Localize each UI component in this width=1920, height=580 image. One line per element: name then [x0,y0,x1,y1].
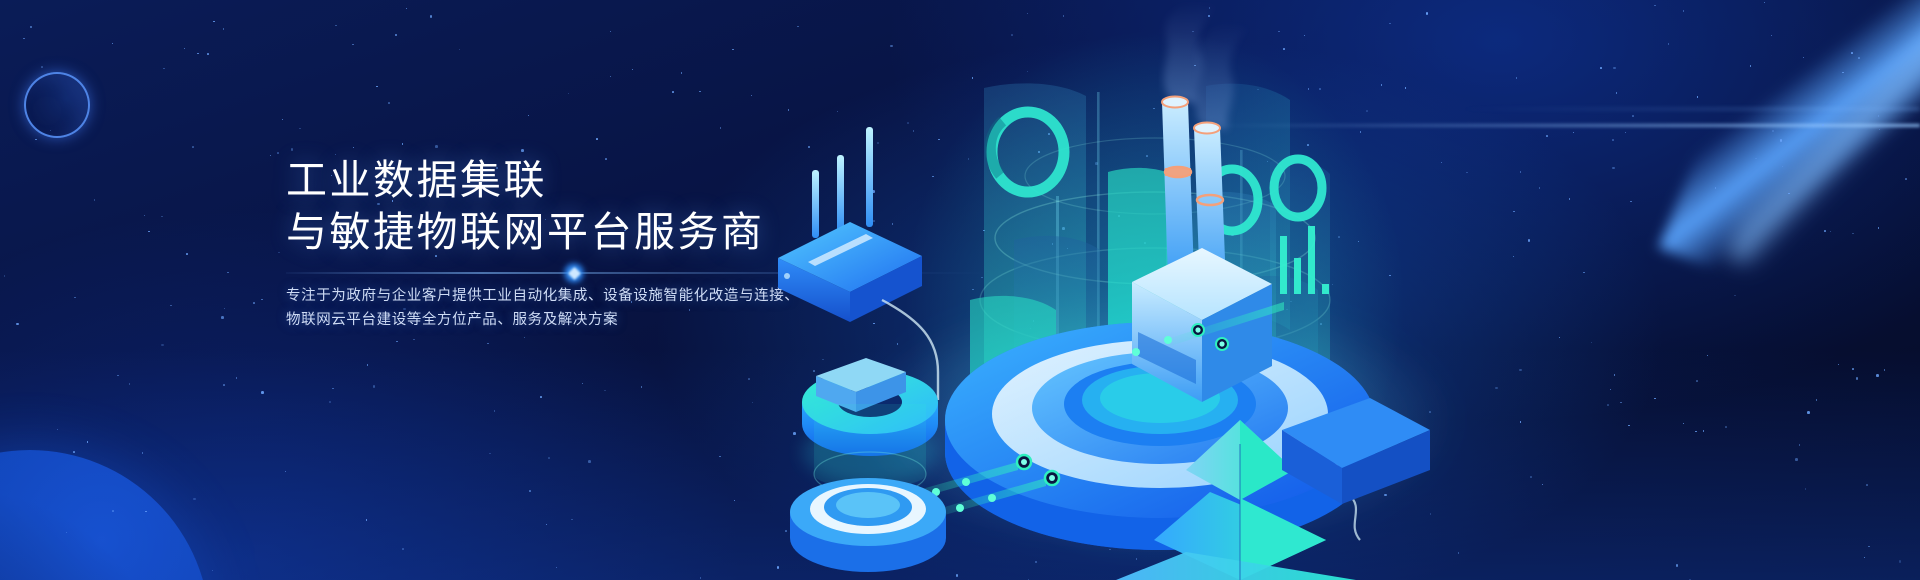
headline-line-2: 与敏捷物联网平台服务商 [286,206,846,258]
hero-copy: 工业数据集联 与敏捷物联网平台服务商 专注于为政府与企业客户提供工业自动化集成、… [286,154,846,332]
hero-banner: 工业数据集联 与敏捷物联网平台服务商 专注于为政府与企业客户提供工业自动化集成、… [0,0,1920,580]
isometric-industrial-iot-scene [770,0,1920,580]
crescent-moon-icon [24,72,90,138]
headline-line-1: 工业数据集联 [286,154,846,206]
subtitle-line-1: 专注于为政府与企业客户提供工业自动化集成、设备设施智能化改造与连接、 [286,284,816,308]
subtitle-line-2: 物联网云平台建设等全方位产品、服务及解决方案 [286,308,816,332]
small-disc [790,478,946,572]
